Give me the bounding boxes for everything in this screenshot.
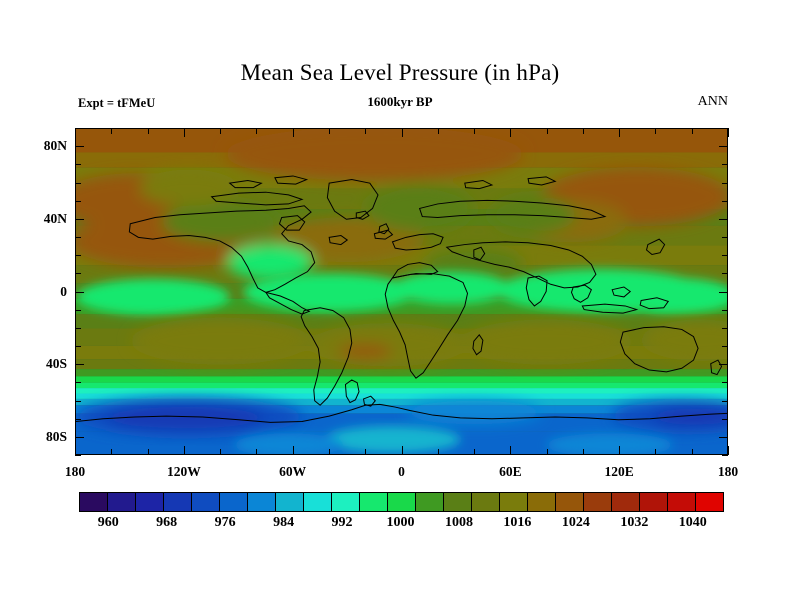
colorbar-swatch: [696, 493, 723, 511]
season-label: ANN: [698, 94, 728, 110]
tick-mark: [692, 449, 693, 455]
tick-mark: [75, 128, 81, 129]
tick-mark: [220, 128, 221, 134]
colorbar-tick-label: 1040: [679, 516, 707, 530]
tick-mark: [728, 446, 729, 455]
colorbar-swatch: [472, 493, 500, 511]
tick-mark: [722, 419, 728, 420]
colorbar-swatch: [108, 493, 136, 511]
colorbar-swatch: [136, 493, 164, 511]
tick-mark: [619, 128, 620, 137]
y-axis-tick-label: 80S: [5, 430, 67, 444]
x-axis-tick-label: 60W: [279, 465, 306, 479]
colorbar-tick-label: 968: [156, 516, 177, 530]
tick-mark: [474, 449, 475, 455]
tick-mark: [722, 183, 728, 184]
tick-mark: [510, 446, 511, 455]
tick-mark: [722, 273, 728, 274]
x-axis-tick-label: 0: [398, 465, 405, 479]
colorbar-tick-label: 976: [215, 516, 236, 530]
colorbar-tick-label: 992: [332, 516, 353, 530]
tick-mark: [75, 328, 81, 329]
tick-mark: [220, 449, 221, 455]
tick-mark: [75, 164, 81, 165]
tick-mark: [547, 449, 548, 455]
x-axis-tick-label: 120W: [167, 465, 201, 479]
tick-mark: [722, 401, 728, 402]
tick-mark: [75, 273, 81, 274]
colorbar-swatch: [220, 493, 248, 511]
tick-mark: [365, 449, 366, 455]
tick-mark: [256, 128, 257, 134]
colorbar-swatch: [276, 493, 304, 511]
x-axis-tick-label: 120E: [605, 465, 634, 479]
tick-mark: [692, 128, 693, 134]
colorbar-swatch: [304, 493, 332, 511]
tick-mark: [75, 255, 81, 256]
tick-mark: [474, 128, 475, 134]
tick-mark: [75, 292, 84, 293]
tick-mark: [75, 455, 81, 456]
colorbar-tick-label: 960: [98, 516, 119, 530]
tick-mark: [619, 446, 620, 455]
colorbar-swatch: [416, 493, 444, 511]
colorbar-swatch: [248, 493, 276, 511]
tick-mark: [722, 310, 728, 311]
tick-mark: [719, 146, 728, 147]
tick-mark: [722, 128, 728, 129]
y-axis-tick-label: 0: [5, 285, 67, 299]
colorbar-tick-label: 1016: [503, 516, 531, 530]
tick-mark: [111, 449, 112, 455]
colorbar-swatch: [360, 493, 388, 511]
tick-mark: [728, 128, 729, 137]
tick-mark: [293, 128, 294, 137]
tick-mark: [722, 201, 728, 202]
tick-mark: [722, 164, 728, 165]
x-axis-tick-label: 180: [65, 465, 85, 479]
tick-mark: [75, 183, 81, 184]
tick-mark: [75, 219, 84, 220]
y-axis-tick-label: 80N: [5, 139, 67, 153]
tick-mark: [75, 446, 76, 455]
colorbar-swatch: [584, 493, 612, 511]
tick-mark: [75, 382, 81, 383]
tick-mark: [547, 128, 548, 134]
tick-mark: [293, 446, 294, 455]
colorbar-swatch: [444, 493, 472, 511]
y-axis-tick-label: 40N: [5, 212, 67, 226]
tick-mark: [365, 128, 366, 134]
tick-mark: [75, 128, 76, 137]
tick-mark: [184, 128, 185, 137]
tick-mark: [75, 401, 81, 402]
tick-mark: [722, 255, 728, 256]
tick-mark: [402, 128, 403, 137]
tick-mark: [438, 449, 439, 455]
tick-mark: [722, 382, 728, 383]
tick-mark: [75, 146, 84, 147]
colorbar-tick-label: 1000: [387, 516, 415, 530]
tick-mark: [583, 449, 584, 455]
tick-mark: [75, 419, 81, 420]
tick-mark: [583, 128, 584, 134]
tick-mark: [329, 449, 330, 455]
tick-mark: [438, 128, 439, 134]
x-axis-tick-label: 180: [718, 465, 738, 479]
tick-mark: [75, 310, 81, 311]
colorbar-swatch: [192, 493, 220, 511]
tick-mark: [722, 237, 728, 238]
colorbar-swatch: [388, 493, 416, 511]
figure-canvas: Mean Sea Level Pressure (in hPa) 1600kyr…: [0, 0, 800, 600]
experiment-label: Expt = tFMeU: [78, 96, 155, 111]
tick-mark: [719, 437, 728, 438]
tick-mark: [329, 128, 330, 134]
tick-mark: [148, 128, 149, 134]
tick-mark: [719, 292, 728, 293]
colorbar-swatch: [612, 493, 640, 511]
colorbar-swatch: [80, 493, 108, 511]
tick-mark: [655, 449, 656, 455]
colorbar-swatch: [528, 493, 556, 511]
colorbar-swatch: [500, 493, 528, 511]
tick-mark: [184, 446, 185, 455]
colorbar-swatch: [640, 493, 668, 511]
pressure-contour-map: [76, 129, 727, 454]
page-title: Mean Sea Level Pressure (in hPa): [0, 60, 800, 86]
tick-mark: [655, 128, 656, 134]
colorbar-tick-label: 984: [273, 516, 294, 530]
tick-mark: [402, 446, 403, 455]
colorbar-tick-label: 1032: [620, 516, 648, 530]
tick-mark: [719, 219, 728, 220]
tick-mark: [722, 346, 728, 347]
colorbar-swatch: [668, 493, 696, 511]
tick-mark: [75, 437, 84, 438]
tick-mark: [722, 328, 728, 329]
tick-mark: [111, 128, 112, 134]
colorbar-swatch: [164, 493, 192, 511]
tick-mark: [510, 128, 511, 137]
tick-mark: [722, 455, 728, 456]
colorbar-tick-label: 1024: [562, 516, 590, 530]
colorbar: [79, 492, 724, 512]
tick-mark: [75, 237, 81, 238]
tick-mark: [75, 201, 81, 202]
map-plot-area: [75, 128, 728, 455]
tick-mark: [75, 364, 84, 365]
colorbar-swatch: [556, 493, 584, 511]
tick-mark: [719, 364, 728, 365]
tick-mark: [148, 449, 149, 455]
tick-mark: [256, 449, 257, 455]
y-axis-tick-label: 40S: [5, 357, 67, 371]
colorbar-swatch: [332, 493, 360, 511]
colorbar-tick-label: 1008: [445, 516, 473, 530]
x-axis-tick-label: 60E: [499, 465, 522, 479]
tick-mark: [75, 346, 81, 347]
